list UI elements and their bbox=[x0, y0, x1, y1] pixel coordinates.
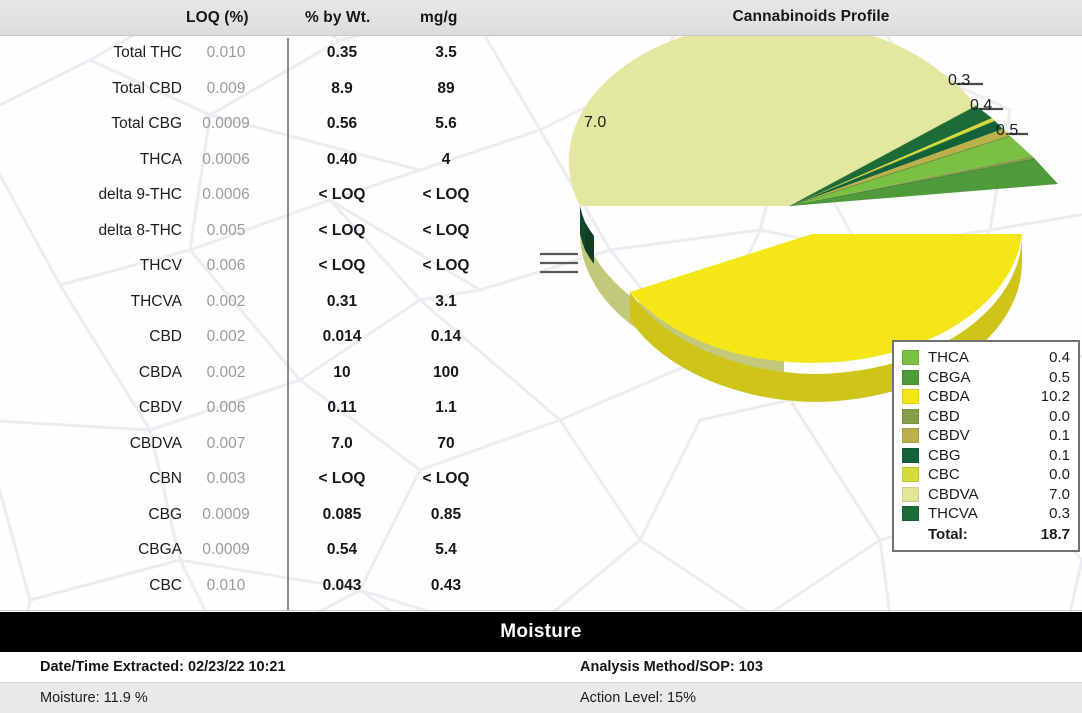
table-row: CBN0.003< LOQ< LOQ bbox=[0, 462, 540, 498]
chart-panel-title: Cannabinoids Profile bbox=[540, 8, 1082, 26]
table-row: CBG0.00090.0850.85 bbox=[0, 498, 540, 534]
legend-color-swatch bbox=[902, 370, 919, 385]
legend-item-value: 0.4 bbox=[1024, 349, 1070, 366]
table-row: delta 8-THC0.005< LOQ< LOQ bbox=[0, 214, 540, 250]
legend-item-label: THCVA bbox=[928, 505, 1024, 522]
analyte-percent-weight: 0.31 bbox=[296, 293, 388, 311]
table-row: Total CBD0.0098.989 bbox=[0, 72, 540, 108]
analyte-mg-per-g: 3.5 bbox=[400, 44, 492, 62]
analyte-loq: 0.002 bbox=[186, 328, 266, 346]
legend-item-label: CBDA bbox=[928, 388, 1024, 405]
moisture-info-row-2: Moisture: 11.9 % Action Level: 15% bbox=[0, 683, 1082, 713]
analyte-name: CBDV bbox=[139, 399, 182, 417]
analyte-percent-weight: 0.11 bbox=[296, 399, 388, 417]
analyte-name: CBDA bbox=[139, 364, 182, 382]
moisture-section-bar: Moisture bbox=[0, 612, 1082, 652]
analyte-table: Total THC0.0100.353.5Total CBD0.0098.989… bbox=[0, 36, 540, 610]
analyte-loq: 0.006 bbox=[186, 257, 266, 275]
column-header-mg-per-g: mg/g bbox=[420, 9, 457, 27]
legend-total-row: Total: 18.7 bbox=[902, 524, 1070, 545]
callout-label-cbga: 0.5 bbox=[996, 122, 1018, 140]
analyte-loq: 0.0006 bbox=[186, 151, 266, 169]
analyte-loq: 0.002 bbox=[186, 293, 266, 311]
analyte-loq: 0.010 bbox=[186, 44, 266, 62]
analyte-loq: 0.0006 bbox=[186, 186, 266, 204]
analyte-mg-per-g: 4 bbox=[400, 151, 492, 169]
analyte-name: Total THC bbox=[113, 44, 182, 62]
analyte-percent-weight: 0.54 bbox=[296, 541, 388, 559]
analyte-mg-per-g: 0.43 bbox=[400, 577, 492, 595]
legend-color-swatch bbox=[902, 506, 919, 521]
analyte-loq: 0.002 bbox=[186, 364, 266, 382]
table-row: Total THC0.0100.353.5 bbox=[0, 36, 540, 72]
analyte-percent-weight: 0.40 bbox=[296, 151, 388, 169]
callout-label-thcva: 0.3 bbox=[948, 72, 970, 90]
legend-color-swatch bbox=[902, 409, 919, 424]
analyte-mg-per-g: 70 bbox=[400, 435, 492, 453]
moisture-section-title: Moisture bbox=[0, 621, 1082, 643]
legend-item-value: 0.3 bbox=[1024, 505, 1070, 522]
legend-item-label: CBD bbox=[928, 408, 1024, 425]
legend-color-swatch bbox=[902, 467, 919, 482]
legend-total-label: Total: bbox=[928, 526, 1024, 543]
legend-item: CBC0.0 bbox=[902, 465, 1070, 485]
legend-color-swatch bbox=[902, 448, 919, 463]
analyte-loq: 0.007 bbox=[186, 435, 266, 453]
table-header-band: LOQ (%) % by Wt. mg/g Cannabinoids Profi… bbox=[0, 0, 1082, 36]
legend-item-value: 0.1 bbox=[1024, 427, 1070, 444]
analyte-mg-per-g: 0.14 bbox=[400, 328, 492, 346]
legend-item-label: CBDV bbox=[928, 427, 1024, 444]
legend-item-label: CBC bbox=[928, 466, 1024, 483]
legend-color-swatch bbox=[902, 487, 919, 502]
legend-item: THCVA0.3 bbox=[902, 504, 1070, 524]
table-row: delta 9-THC0.0006< LOQ< LOQ bbox=[0, 178, 540, 214]
date-time-extracted-label: Date/Time Extracted: 02/23/22 10:21 bbox=[40, 659, 286, 675]
analyte-name: CBG bbox=[148, 506, 182, 524]
legend-color-swatch bbox=[902, 389, 919, 404]
analyte-name: CBGA bbox=[138, 541, 182, 559]
legend-item-value: 7.0 bbox=[1024, 486, 1070, 503]
analyte-mg-per-g: < LOQ bbox=[400, 470, 492, 488]
table-row: THCA0.00060.404 bbox=[0, 143, 540, 179]
analyte-loq: 0.003 bbox=[186, 470, 266, 488]
column-header-percent-wt: % by Wt. bbox=[305, 9, 370, 27]
analyte-mg-per-g: < LOQ bbox=[400, 257, 492, 275]
analyte-percent-weight: < LOQ bbox=[296, 257, 388, 275]
table-row: CBGA0.00090.545.4 bbox=[0, 533, 540, 569]
callout-label-cbdva: 7.0 bbox=[584, 114, 606, 132]
analyte-name: CBD bbox=[149, 328, 182, 346]
callout-stub-lines bbox=[540, 248, 578, 278]
table-row: THCVA0.0020.313.1 bbox=[0, 285, 540, 321]
analyte-mg-per-g: 5.4 bbox=[400, 541, 492, 559]
table-body: Total THC0.0100.353.5Total CBD0.0098.989… bbox=[0, 36, 540, 604]
analyte-mg-per-g: 3.1 bbox=[400, 293, 492, 311]
legend-color-swatch bbox=[902, 428, 919, 443]
legend-item-value: 0.0 bbox=[1024, 466, 1070, 483]
legend-item-value: 0.1 bbox=[1024, 447, 1070, 464]
analyte-mg-per-g: 89 bbox=[400, 80, 492, 98]
analyte-name: THCV bbox=[140, 257, 182, 275]
table-row: CBDVA0.0077.070 bbox=[0, 427, 540, 463]
table-row: CBDV0.0060.111.1 bbox=[0, 391, 540, 427]
analyte-percent-weight: < LOQ bbox=[296, 470, 388, 488]
legend-total-value: 18.7 bbox=[1024, 526, 1070, 543]
analyte-loq: 0.010 bbox=[186, 577, 266, 595]
legend-entries: THCA0.4CBGA0.5CBDA10.2CBD0.0CBDV0.1CBG0.… bbox=[902, 348, 1070, 524]
action-level-label: Action Level: 15% bbox=[580, 690, 696, 706]
section-divider-rule bbox=[0, 610, 1082, 611]
table-row: CBD0.0020.0140.14 bbox=[0, 320, 540, 356]
table-column-divider bbox=[287, 38, 289, 610]
analyte-name: CBC bbox=[149, 577, 182, 595]
legend-item: CBDA10.2 bbox=[902, 387, 1070, 407]
analyte-loq: 0.005 bbox=[186, 222, 266, 240]
legend-item: CBDVA7.0 bbox=[902, 485, 1070, 505]
table-row: CBDA0.00210100 bbox=[0, 356, 540, 392]
table-row: Total CBG0.00090.565.6 bbox=[0, 107, 540, 143]
analyte-name: CBDVA bbox=[130, 435, 182, 453]
analyte-loq: 0.009 bbox=[186, 80, 266, 98]
analyte-loq: 0.0009 bbox=[186, 115, 266, 133]
legend-color-swatch bbox=[902, 350, 919, 365]
legend-item-value: 0.5 bbox=[1024, 369, 1070, 386]
moisture-info-row-1: Date/Time Extracted: 02/23/22 10:21 Anal… bbox=[0, 652, 1082, 683]
cannabinoids-pie-chart: 7.0 0.3 0.4 0.5 THCA0.4CBGA0.5CBDA10.2CB… bbox=[540, 36, 1082, 610]
legend-item: CBGA0.5 bbox=[902, 368, 1070, 388]
analyte-percent-weight: 0.014 bbox=[296, 328, 388, 346]
analyte-mg-per-g: 0.85 bbox=[400, 506, 492, 524]
legend-item-value: 10.2 bbox=[1024, 388, 1070, 405]
analyte-percent-weight: < LOQ bbox=[296, 222, 388, 240]
analyte-mg-per-g: < LOQ bbox=[400, 222, 492, 240]
analyte-percent-weight: 10 bbox=[296, 364, 388, 382]
legend-item: THCA0.4 bbox=[902, 348, 1070, 368]
analyte-name: delta 9-THC bbox=[98, 186, 182, 204]
legend-item-value: 0.0 bbox=[1024, 408, 1070, 425]
analyte-name: THCVA bbox=[131, 293, 182, 311]
column-header-loq: LOQ (%) bbox=[186, 9, 249, 27]
analyte-percent-weight: 0.56 bbox=[296, 115, 388, 133]
cannabinoids-report: LOQ (%) % by Wt. mg/g Cannabinoids Profi… bbox=[0, 0, 1082, 713]
analyte-mg-per-g: 5.6 bbox=[400, 115, 492, 133]
callout-label-thca: 0.4 bbox=[970, 97, 992, 115]
analyte-name: CBN bbox=[149, 470, 182, 488]
analyte-name: delta 8-THC bbox=[98, 222, 182, 240]
legend-item-label: THCA bbox=[928, 349, 1024, 366]
analyte-percent-weight: 8.9 bbox=[296, 80, 388, 98]
analyte-loq: 0.0009 bbox=[186, 506, 266, 524]
legend-item: CBG0.1 bbox=[902, 446, 1070, 466]
analysis-method-label: Analysis Method/SOP: 103 bbox=[580, 659, 763, 675]
analyte-mg-per-g: 100 bbox=[400, 364, 492, 382]
analyte-percent-weight: 7.0 bbox=[296, 435, 388, 453]
table-row: CBC0.0100.0430.43 bbox=[0, 569, 540, 605]
legend-item-label: CBG bbox=[928, 447, 1024, 464]
table-row: THCV0.006< LOQ< LOQ bbox=[0, 249, 540, 285]
analyte-loq: 0.006 bbox=[186, 399, 266, 417]
analyte-percent-weight: 0.085 bbox=[296, 506, 388, 524]
analyte-name: Total CBD bbox=[112, 80, 182, 98]
analyte-percent-weight: 0.043 bbox=[296, 577, 388, 595]
legend-item-label: CBGA bbox=[928, 369, 1024, 386]
moisture-value-label: Moisture: 11.9 % bbox=[40, 690, 148, 706]
analyte-name: Total CBG bbox=[111, 115, 182, 133]
legend-item: CBD0.0 bbox=[902, 407, 1070, 427]
legend-item-label: CBDVA bbox=[928, 486, 1024, 503]
analyte-mg-per-g: 1.1 bbox=[400, 399, 492, 417]
analyte-percent-weight: < LOQ bbox=[296, 186, 388, 204]
analyte-name: THCA bbox=[140, 151, 182, 169]
pie-chart-legend: THCA0.4CBGA0.5CBDA10.2CBD0.0CBDV0.1CBG0.… bbox=[892, 340, 1080, 552]
analyte-mg-per-g: < LOQ bbox=[400, 186, 492, 204]
legend-item: CBDV0.1 bbox=[902, 426, 1070, 446]
analyte-loq: 0.0009 bbox=[186, 541, 266, 559]
analyte-percent-weight: 0.35 bbox=[296, 44, 388, 62]
